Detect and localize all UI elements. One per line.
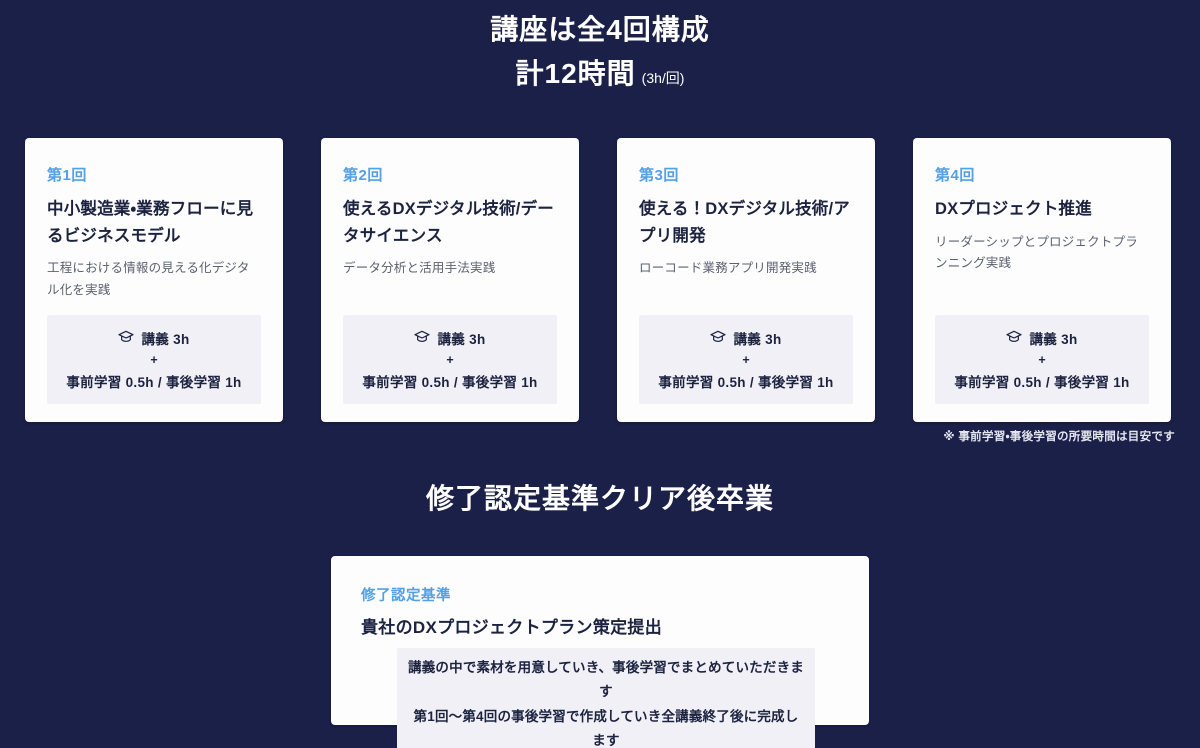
lesson-card-1[interactable]: 第1回 中小製造業・業務フローに見るビジネスモデル 工程における情報の見える化デ… (25, 138, 283, 422)
lesson-description: データ分析と活用手法実践 (343, 258, 557, 279)
study-hours-label: 事前学習 0.5h / 事後学習 1h (55, 371, 253, 391)
lesson-title: 中小製造業・業務フローに見るビジネスモデル (47, 196, 261, 249)
study-hours-label: 事前学習 0.5h / 事後学習 1h (647, 371, 845, 391)
lecture-hours-label: 講義 3h (733, 328, 781, 348)
lecture-hours-label: 講義 3h (141, 328, 189, 348)
lesson-description: ローコード業務アプリ開発実践 (639, 258, 853, 279)
criteria-title: 貴社のDXプロジェクトプラン策定提出 (361, 613, 839, 638)
hours-plus-sign: + (647, 354, 845, 367)
completion-criteria-card[interactable]: 修了認定基準 貴社のDXプロジェクトプラン策定提出 講義の中で素材を用意していき… (331, 556, 869, 725)
lesson-hours-box: 講義 3h + 事前学習 0.5h / 事後学習 1h (343, 315, 557, 405)
lesson-index-label: 第3回 (639, 164, 853, 185)
lesson-description: 工程における情報の見える化デジタル化を実践 (47, 258, 261, 301)
lecture-hours-row: 講義 3h (647, 328, 845, 348)
lesson-card-2[interactable]: 第2回 使えるDXデジタル技術/データサイエンス データ分析と活用手法実践 講義… (321, 138, 579, 422)
lesson-index-label: 第4回 (935, 164, 1149, 185)
page-title-line-2: 計12時間 (516, 60, 636, 88)
lecture-hours-row: 講義 3h (351, 328, 549, 348)
lecture-hours-row: 講義 3h (943, 328, 1141, 348)
criteria-note-line: 第1回〜第4回の事後学習で作成していき全講義終了後に完成します (407, 705, 805, 748)
lesson-hours-box: 講義 3h + 事前学習 0.5h / 事後学習 1h (935, 315, 1149, 405)
lesson-card-row: 第1回 中小製造業・業務フローに見るビジネスモデル 工程における情報の見える化デ… (25, 138, 1175, 422)
lesson-card-3[interactable]: 第3回 使える！DXデジタル技術/アプリ開発 ローコード業務アプリ開発実践 講義… (617, 138, 875, 422)
page-title-line-2-row: 計12時間 (3h/回) (0, 60, 1200, 88)
graduation-cap-icon (710, 329, 726, 346)
lesson-index-label: 第1回 (47, 164, 261, 185)
lecture-hours-label: 講義 3h (437, 328, 485, 348)
hours-plus-sign: + (55, 354, 253, 367)
graduation-cap-icon (1006, 329, 1022, 346)
lecture-hours-row: 講義 3h (55, 328, 253, 348)
page-header: 講座は全4回構成 計12時間 (3h/回) (0, 0, 1200, 88)
lesson-hours-box: 講義 3h + 事前学習 0.5h / 事後学習 1h (639, 315, 853, 405)
graduation-heading: 修了認定基準クリア後卒業 (0, 477, 1200, 517)
lesson-title: 使えるDXデジタル技術/データサイエンス (343, 196, 557, 249)
criteria-note-line: 講義の中で素材を用意していき、事後学習でまとめていただきます (407, 656, 805, 705)
lesson-index-label: 第2回 (343, 164, 557, 185)
lesson-hours-box: 講義 3h + 事前学習 0.5h / 事後学習 1h (47, 315, 261, 405)
lesson-card-4[interactable]: 第4回 DXプロジェクト推進 リーダーシップとプロジェクトプランニング実践 講義… (913, 138, 1171, 422)
lesson-title: 使える！DXデジタル技術/アプリ開発 (639, 196, 853, 249)
card-spacer (343, 294, 557, 315)
card-spacer (935, 288, 1149, 315)
page-title-line-2-subnote: (3h/回) (642, 71, 685, 85)
graduation-cap-icon (118, 329, 134, 346)
page-title-line-1: 講座は全4回構成 (0, 16, 1200, 44)
lesson-title: DXプロジェクト推進 (935, 196, 1149, 223)
hours-plus-sign: + (351, 354, 549, 367)
lecture-hours-label: 講義 3h (1029, 328, 1077, 348)
graduation-cap-icon (414, 329, 430, 346)
lesson-description: リーダーシップとプロジェクトプランニング実践 (935, 232, 1149, 275)
hours-plus-sign: + (943, 354, 1141, 367)
study-hours-label: 事前学習 0.5h / 事後学習 1h (943, 371, 1141, 391)
hours-footnote: ※ 事前学習・事後学習の所要時間は目安です (943, 428, 1175, 444)
criteria-label: 修了認定基準 (361, 584, 839, 605)
criteria-notes-box: 講義の中で素材を用意していき、事後学習でまとめていただきます 第1回〜第4回の事… (397, 648, 815, 748)
study-hours-label: 事前学習 0.5h / 事後学習 1h (351, 371, 549, 391)
card-spacer (639, 294, 853, 315)
